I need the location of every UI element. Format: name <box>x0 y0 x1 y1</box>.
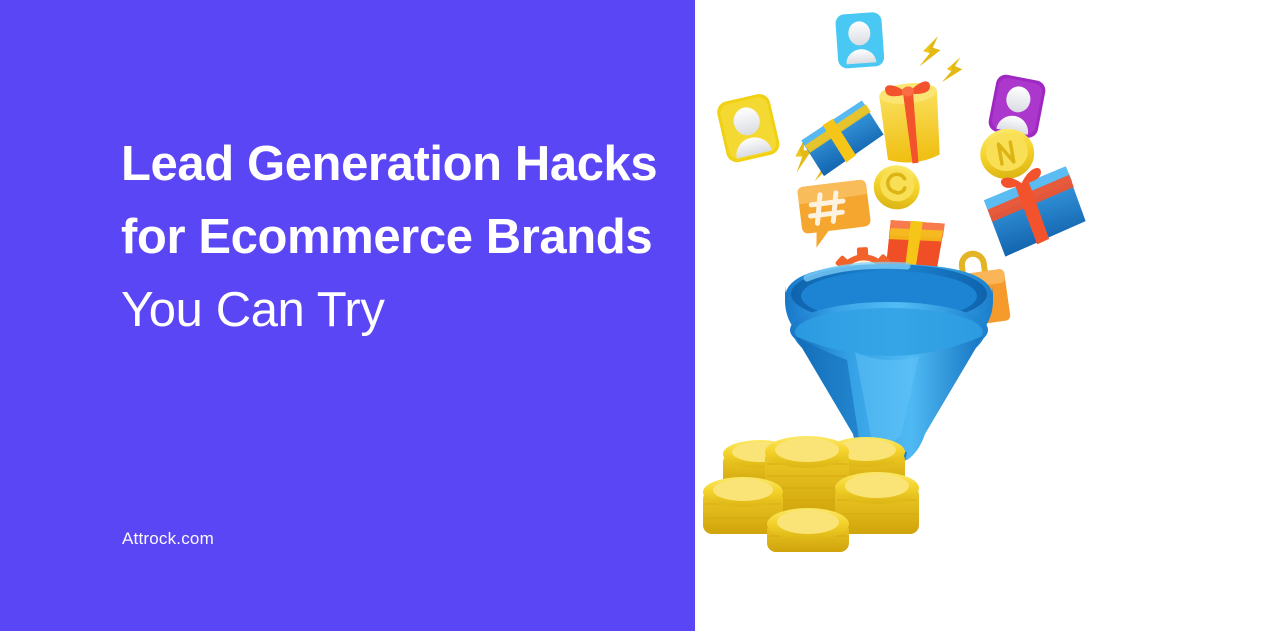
page-title-bold: Lead Generation Hacks for Ecommerce Bran… <box>121 137 657 264</box>
lightning-bolt-right-icon <box>919 34 942 70</box>
avatar-card-yellow-icon <box>715 92 782 165</box>
lightning-bolt-right-2-icon <box>942 54 965 86</box>
coin-stack-front <box>767 508 849 552</box>
illustration-panel <box>695 0 1279 631</box>
page-title: Lead Generation Hacks for Ecommerce Bran… <box>121 128 691 347</box>
lead-generation-banner: Lead Generation Hacks for Ecommerce Bran… <box>0 0 1279 631</box>
site-credit: Attrock.com <box>122 529 214 549</box>
gift-box-blue-icon <box>798 99 888 178</box>
headline-panel: Lead Generation Hacks for Ecommerce Bran… <box>0 0 695 631</box>
page-title-light: You Can Try <box>121 283 384 337</box>
avatar-card-cyan-icon <box>835 12 885 69</box>
gift-box-yellow-icon <box>878 80 944 166</box>
lead-generation-funnel-illustration <box>695 0 1279 631</box>
coin-pile-icon <box>703 436 919 552</box>
avatar-card-purple-icon <box>987 73 1047 139</box>
gold-coin-center-icon <box>870 161 924 214</box>
hashtag-speech-bubble-icon <box>797 179 873 249</box>
